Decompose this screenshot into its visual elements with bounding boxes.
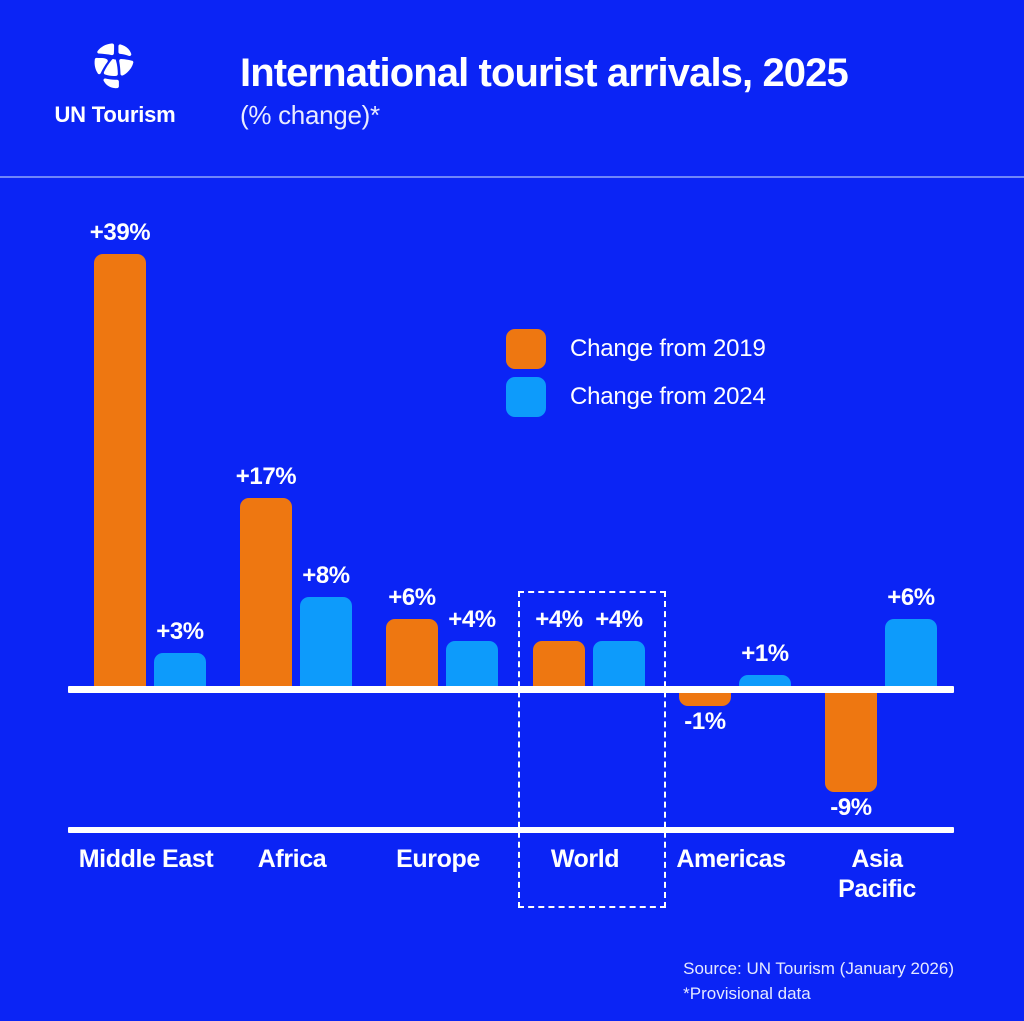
legend-item-2019: Change from 2019 xyxy=(506,325,766,373)
bar-value-americas-2019: -1% xyxy=(650,708,760,736)
bar-value-world-2024: +4% xyxy=(564,606,674,634)
legend-item-2024: Change from 2024 xyxy=(506,373,766,421)
bar-value-middle-east-2019: +39% xyxy=(65,219,175,247)
provisional-note-line: *Provisional data xyxy=(683,982,954,1007)
category-label-asia-pacific: AsiaPacific xyxy=(777,844,977,904)
legend-swatch-2019 xyxy=(506,329,546,369)
legend: Change from 2019 Change from 2024 xyxy=(506,325,766,421)
bar-asia-pacific-2019 xyxy=(825,693,877,792)
bar-world-2019 xyxy=(533,641,585,686)
brand-name: UN Tourism xyxy=(30,104,200,126)
page-title: International tourist arrivals, 2025 xyxy=(240,52,848,94)
bar-middle-east-2024 xyxy=(154,653,206,686)
bar-value-africa-2019: +17% xyxy=(211,463,321,491)
bar-value-middle-east-2024: +3% xyxy=(125,618,235,646)
bar-value-asia-pacific-2024: +6% xyxy=(856,584,966,612)
chart-plot-area: Change from 2019 Change from 2024 +39% +… xyxy=(0,178,1024,1021)
source-note: Source: UN Tourism (January 2026) *Provi… xyxy=(683,957,954,1006)
bar-asia-pacific-2024 xyxy=(885,619,937,686)
bar-world-2024 xyxy=(593,641,645,686)
bar-europe-2024 xyxy=(446,641,498,686)
legend-label-2019: Change from 2019 xyxy=(570,335,766,363)
category-axis-line xyxy=(68,827,954,833)
bar-americas-2019 xyxy=(679,693,731,706)
page-subtitle: (% change)* xyxy=(240,100,848,131)
brand-lockup: UN Tourism xyxy=(30,30,200,126)
legend-swatch-2024 xyxy=(506,377,546,417)
bar-africa-2024 xyxy=(300,597,352,686)
legend-label-2024: Change from 2024 xyxy=(570,383,766,411)
zero-baseline xyxy=(68,686,954,693)
bar-africa-2019 xyxy=(240,498,292,686)
infographic-chart-page: UN Tourism International tourist arrival… xyxy=(0,0,1024,1021)
bar-value-asia-pacific-2019: -9% xyxy=(796,794,906,822)
bar-value-americas-2024: +1% xyxy=(710,640,820,668)
un-tourism-globe-icon xyxy=(82,30,148,96)
bar-americas-2024 xyxy=(739,675,791,686)
source-line: Source: UN Tourism (January 2026) xyxy=(683,957,954,982)
header: UN Tourism International tourist arrival… xyxy=(0,0,1024,176)
title-block: International tourist arrivals, 2025 (% … xyxy=(240,52,848,131)
